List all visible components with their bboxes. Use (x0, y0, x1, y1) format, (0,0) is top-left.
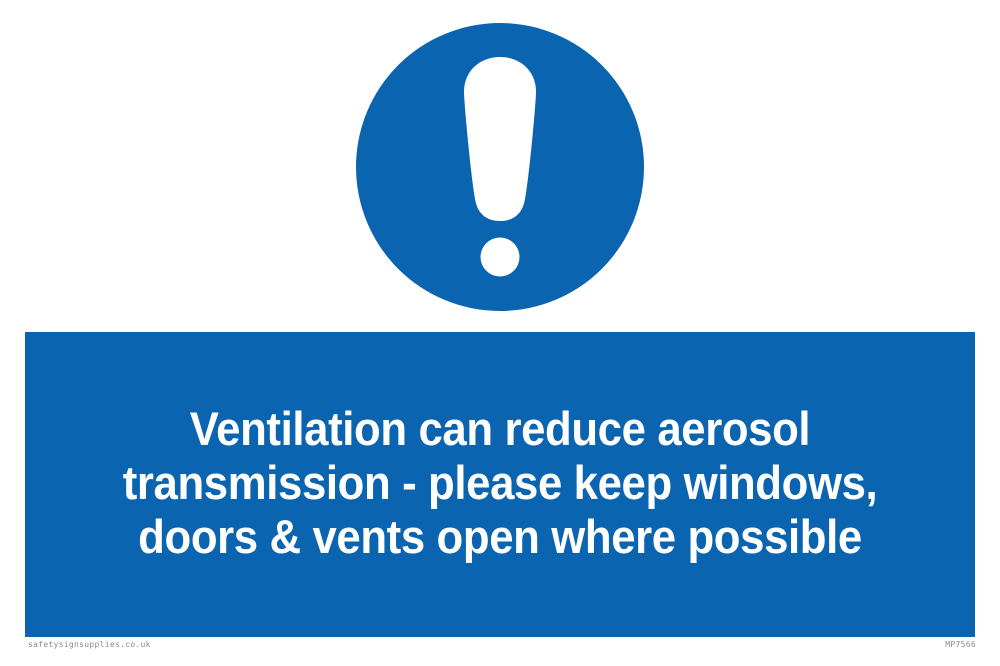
message-text: Ventilation can reduce aerosol transmiss… (58, 402, 942, 568)
safety-sign: Ventilation can reduce aerosol transmiss… (0, 0, 1000, 666)
footer-website: safetysignsupplies.co.uk (28, 640, 151, 649)
message-line-1: Ventilation can reduce aerosol (58, 402, 942, 456)
exclamation-stem (464, 57, 536, 221)
message-line-2: transmission - please keep windows, (58, 456, 942, 510)
exclamation-dot (481, 238, 520, 277)
footer-product-code: MP7566 (945, 640, 976, 649)
exclamation-mark-in-blue-circle-icon (356, 23, 644, 311)
message-panel: Ventilation can reduce aerosol transmiss… (25, 332, 975, 637)
message-line-3: doors & vents open where possible (58, 510, 942, 564)
